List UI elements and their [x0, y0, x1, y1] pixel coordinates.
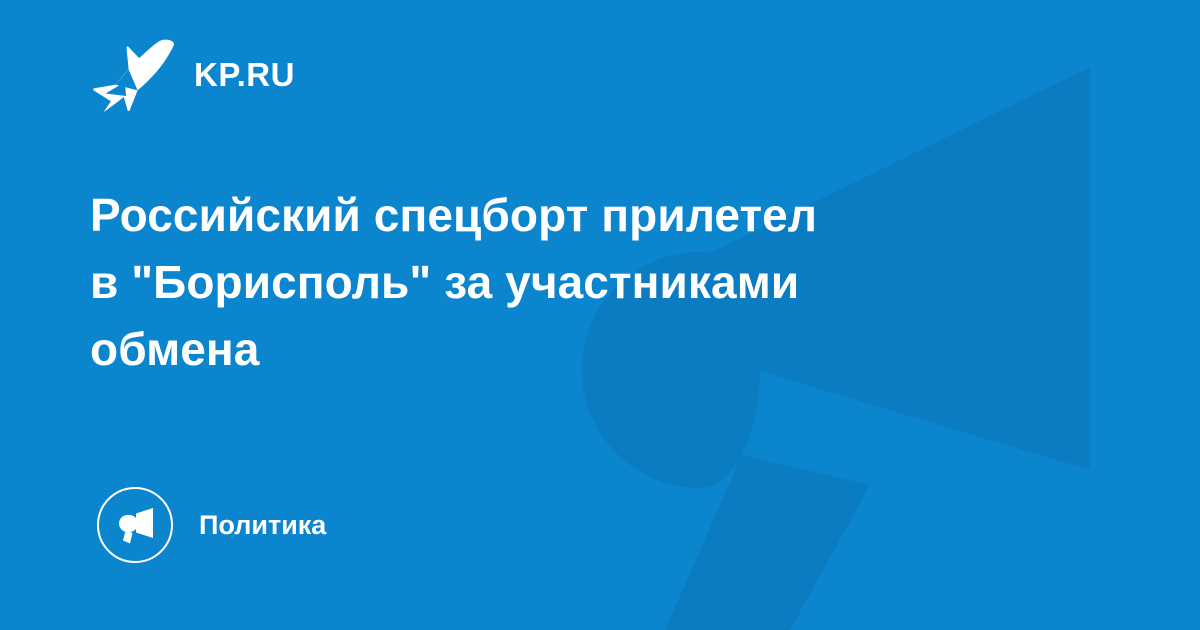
megaphone-icon — [113, 503, 157, 547]
brand-name-label: KP.RU — [194, 58, 295, 91]
brand-logo[interactable]: KP.RU — [92, 34, 295, 114]
headline-line-1: Российский спецборт прилетел — [90, 182, 1050, 249]
category-badge[interactable]: Политика — [97, 486, 326, 564]
headline-line-3: обмена — [90, 316, 1050, 383]
social-share-card: KP.RU Российский спецборт прилетел в "Бо… — [0, 0, 1200, 630]
swallow-bird-icon — [92, 36, 178, 112]
headline-line-2: в "Борисполь" за участниками — [90, 249, 1050, 316]
headline: Российский спецборт прилетел в "Бориспол… — [90, 182, 1050, 383]
category-label: Политика — [199, 512, 326, 539]
category-icon-circle — [97, 487, 173, 563]
